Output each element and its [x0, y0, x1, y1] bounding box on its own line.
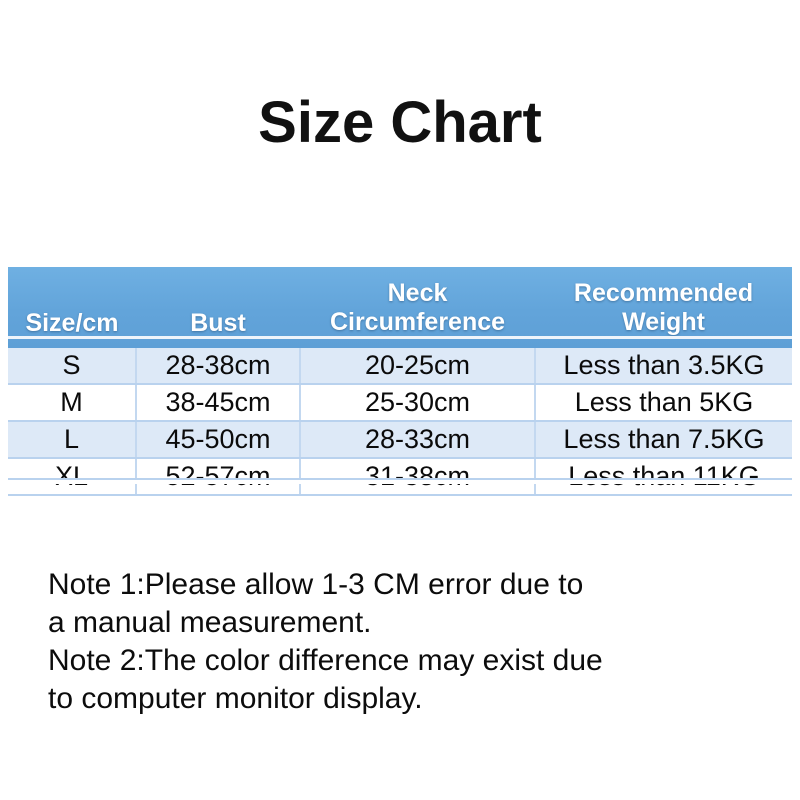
column-header-weight-line1: Recommended: [574, 279, 753, 307]
column-header-neck-line1: Neck: [388, 279, 448, 307]
note-line-4: to computer monitor display.: [48, 680, 768, 718]
table-body: S 28-38cm 20-25cm Less than 3.5KG M 38-4…: [8, 348, 792, 495]
cell-neck: 25-30cm: [300, 384, 535, 421]
cell-weight: Less than 11KG: [535, 458, 792, 495]
cell-size: M: [8, 384, 136, 421]
cell-size: L: [8, 421, 136, 458]
table-row: XL 52-57cm 31-38cm Less than 11KG: [8, 458, 792, 495]
cell-size: XL: [8, 458, 136, 495]
table-bottom-strip: [8, 478, 792, 484]
note-line-1: Note 1:Please allow 1-3 CM error due to: [48, 566, 768, 604]
cell-neck: 28-33cm: [300, 421, 535, 458]
column-header-weight-line2: Weight: [622, 308, 705, 336]
page-title: Size Chart: [0, 94, 800, 152]
cell-weight: Less than 5KG: [535, 384, 792, 421]
cell-neck: 31-38cm: [300, 458, 535, 495]
table-row: L 45-50cm 28-33cm Less than 7.5KG: [8, 421, 792, 458]
cell-bust: 38-45cm: [136, 384, 300, 421]
column-header-neck-line2: Circumference: [330, 308, 505, 336]
table-row: M 38-45cm 25-30cm Less than 5KG: [8, 384, 792, 421]
note-line-3: Note 2:The color difference may exist du…: [48, 642, 768, 680]
size-chart-table: Size/cm Bust Neck Circumference Recommen…: [8, 267, 792, 496]
cell-weight: Less than 3.5KG: [535, 348, 792, 384]
cell-weight: Less than 7.5KG: [535, 421, 792, 458]
note-line-2: a manual measurement.: [48, 604, 768, 642]
cell-bust: 45-50cm: [136, 421, 300, 458]
table-header-underline: [8, 336, 792, 339]
cell-bust: 28-38cm: [136, 348, 300, 384]
cell-size: S: [8, 348, 136, 384]
notes-block: Note 1:Please allow 1-3 CM error due to …: [48, 566, 768, 718]
cell-bust: 52-57cm: [136, 458, 300, 495]
table-row: S 28-38cm 20-25cm Less than 3.5KG: [8, 348, 792, 384]
cell-neck: 20-25cm: [300, 348, 535, 384]
